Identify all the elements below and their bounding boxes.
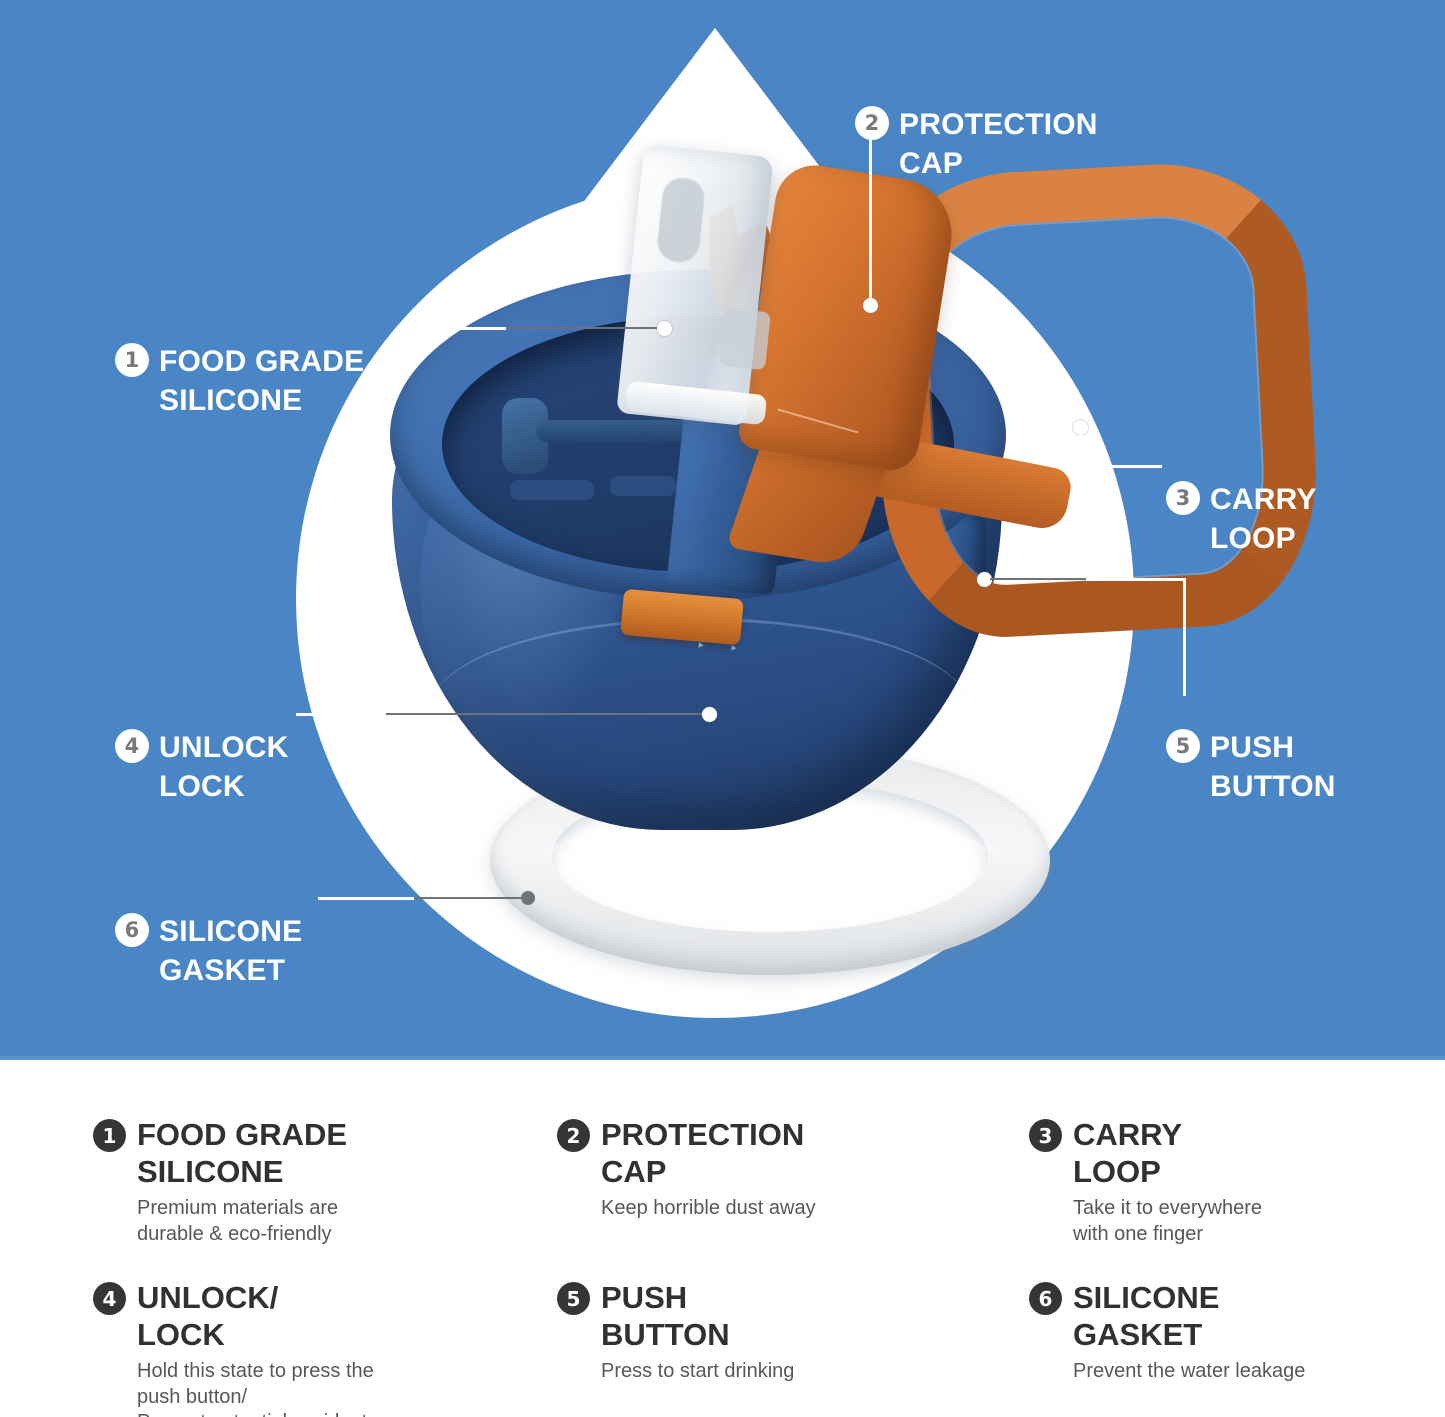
badge-number-icon: 3 xyxy=(1166,481,1200,515)
leader-dot-2 xyxy=(863,298,878,313)
leader-line-3-b xyxy=(1079,465,1162,468)
gasket-highlight xyxy=(535,810,1005,936)
callout-4-title: UNLOCK LOCK xyxy=(159,729,289,806)
callout-5-title: PUSH BUTTON xyxy=(1210,729,1336,806)
leader-dot-4 xyxy=(702,707,717,722)
leader-line-6-b xyxy=(414,897,524,899)
leader-line-4-a xyxy=(296,713,386,716)
badge-number-icon: 2 xyxy=(557,1119,590,1152)
dish-slot-left xyxy=(510,480,594,500)
infographic-page: ‣ ‣ 1 FOOD GRADE SILICONE xyxy=(0,0,1445,1417)
callout-4: 4 UNLOCK LOCK xyxy=(115,691,289,845)
leader-line-1-b xyxy=(506,327,666,329)
callout-2-title: PROTECTION CAP xyxy=(899,106,1098,183)
callout-2: 2 PROTECTION CAP xyxy=(855,68,1098,222)
badge-number-icon: 5 xyxy=(557,1282,590,1315)
legend-panel: 1 FOOD GRADE SILICONE Premium materials … xyxy=(0,1064,1445,1417)
callout-5: 5 PUSH BUTTON xyxy=(1166,691,1336,845)
badge-number-icon: 4 xyxy=(93,1282,126,1315)
callout-1-title: FOOD GRADE SILICONE xyxy=(159,343,364,420)
legend-item-2: 2 PROTECTION CAP Keep horrible dust away xyxy=(557,1116,977,1222)
legend-item-5-title: PUSH BUTTON xyxy=(601,1279,730,1353)
leader-line-6-a xyxy=(318,897,414,900)
legend-item-6-title: SILICONE GASKET xyxy=(1073,1279,1219,1353)
callout-6-title: SILICONE GASKET xyxy=(159,913,302,990)
callout-3-title: CARRY LOOP xyxy=(1210,481,1317,558)
straw-notch xyxy=(719,308,771,370)
hero-bottom-edge xyxy=(0,1056,1445,1060)
legend-item-5: 5 PUSH BUTTON Press to start drinking xyxy=(557,1279,977,1385)
callout-3: 3 CARRY LOOP xyxy=(1166,443,1317,597)
leader-dot-6 xyxy=(521,891,535,905)
legend-item-3-desc: Take it to everywhere with one finger xyxy=(1073,1196,1429,1246)
legend-item-4-desc: Hold this state to press the push button… xyxy=(137,1359,513,1417)
legend-item-5-desc: Press to start drinking xyxy=(601,1359,977,1384)
badge-number-icon: 3 xyxy=(1029,1119,1062,1152)
badge-number-icon: 5 xyxy=(1166,729,1200,763)
product-image: ‣ ‣ xyxy=(330,120,1130,1000)
legend-item-6: 6 SILICONE GASKET Prevent the water leak… xyxy=(1029,1279,1429,1385)
callout-1: 1 FOOD GRADE SILICONE xyxy=(115,305,364,459)
legend-item-1-desc: Premium materials are durable & eco-frie… xyxy=(137,1196,513,1246)
legend-item-4: 4 UNLOCK/ LOCK Hold this state to press … xyxy=(93,1279,513,1417)
legend-item-1: 1 FOOD GRADE SILICONE Premium materials … xyxy=(93,1116,513,1247)
legend-item-2-title: PROTECTION CAP xyxy=(601,1116,804,1190)
leader-dot-1 xyxy=(657,321,672,336)
leader-line-4-b xyxy=(386,713,710,715)
leader-line-5-a xyxy=(990,578,1086,580)
badge-number-icon: 4 xyxy=(115,729,149,763)
legend-item-3: 3 CARRY LOOP Take it to everywhere with … xyxy=(1029,1116,1429,1247)
dish-slot-right xyxy=(610,476,676,496)
legend-item-3-title: CARRY LOOP xyxy=(1073,1116,1182,1190)
legend-item-4-title: UNLOCK/ LOCK xyxy=(137,1279,278,1353)
badge-number-icon: 1 xyxy=(93,1119,126,1152)
badge-number-icon: 6 xyxy=(115,913,149,947)
legend-item-2-desc: Keep horrible dust away xyxy=(601,1196,977,1221)
badge-number-icon: 1 xyxy=(115,343,149,377)
callout-6: 6 SILICONE GASKET xyxy=(115,875,302,1029)
leader-line-3-a xyxy=(1079,427,1082,467)
leader-line-1-a xyxy=(424,327,506,330)
badge-number-icon: 2 xyxy=(855,106,889,140)
badge-number-icon: 6 xyxy=(1029,1282,1062,1315)
legend-item-1-title: FOOD GRADE SILICONE xyxy=(137,1116,347,1190)
hero-section: ‣ ‣ 1 FOOD GRADE SILICONE xyxy=(0,0,1445,1060)
legend-item-6-desc: Prevent the water leakage xyxy=(1073,1359,1429,1384)
